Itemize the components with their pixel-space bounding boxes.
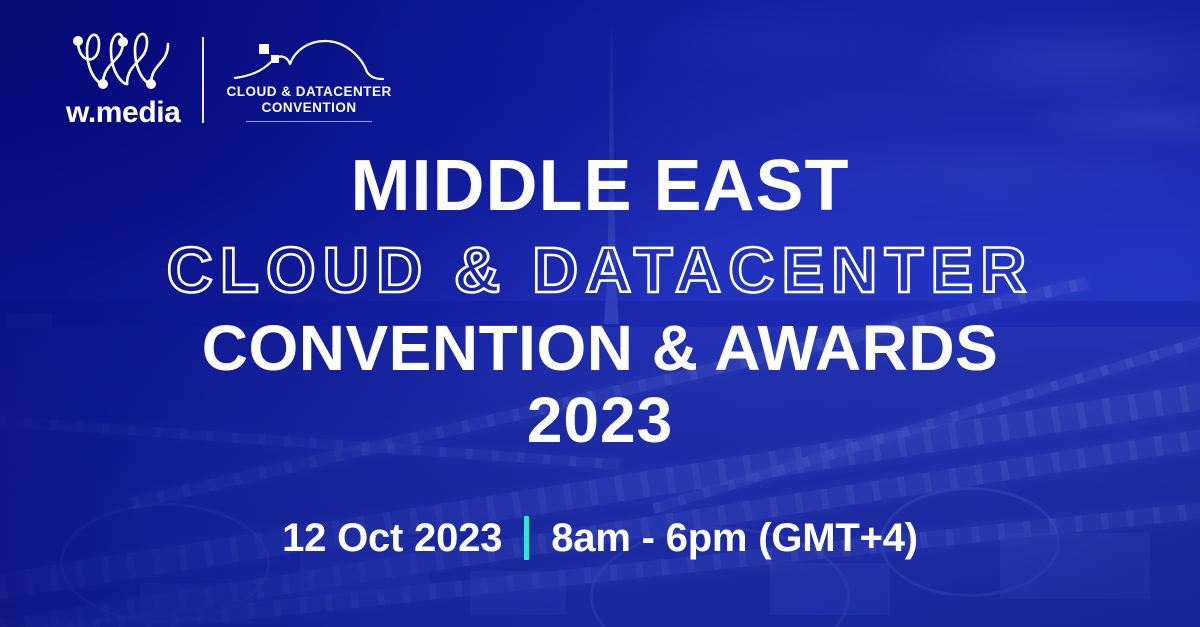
convention-logo-line1: CLOUD & DATACENTER — [226, 84, 391, 100]
event-time: 8am - 6pm (GMT+4) — [551, 518, 918, 558]
convention-logo-rule — [246, 121, 372, 122]
cloud-outline-with-pixels-icon — [233, 38, 385, 82]
headline-year: 2023 — [0, 388, 1200, 452]
headline-event: CONVENTION & AWARDS — [0, 316, 1200, 380]
wmedia-logo: w.media — [66, 32, 180, 128]
logo-divider — [202, 37, 204, 123]
event-date: 12 Oct 2023 — [282, 518, 502, 558]
convention-logo-line2: CONVENTION — [262, 100, 357, 116]
event-details: 12 Oct 2023 8am - 6pm (GMT+4) — [0, 516, 1200, 560]
wmedia-wordmark: w.media — [66, 98, 180, 128]
vertical-bar-separator — [524, 516, 529, 560]
logo-bar: w.media CLOUD & DATACENTER CONVENTION — [66, 32, 392, 128]
headline-region: MIDDLE EAST — [0, 150, 1200, 222]
banner-content: w.media CLOUD & DATACENTER CONVENTION MI… — [0, 0, 1200, 627]
wmedia-zigzag-wave-icon — [69, 32, 177, 94]
headline-subject: CLOUD & DATACENTER — [0, 238, 1200, 302]
event-banner: w.media CLOUD & DATACENTER CONVENTION MI… — [0, 0, 1200, 627]
headline-block: MIDDLE EAST CLOUD & DATACENTER CONVENTIO… — [0, 150, 1200, 452]
convention-logo: CLOUD & DATACENTER CONVENTION — [226, 38, 391, 123]
